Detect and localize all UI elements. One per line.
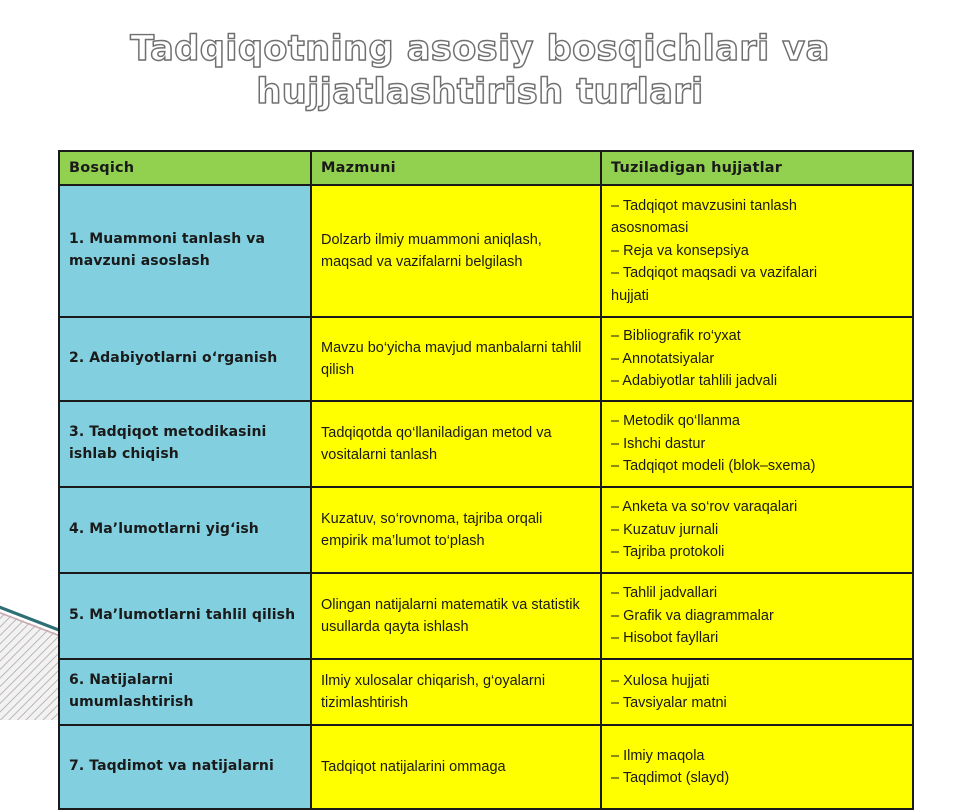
stage-cell: 4. Ma’lumotlarni yig‘ish xyxy=(59,487,311,573)
document-line: – Ishchi dastur xyxy=(611,433,903,455)
table-row: 3. Tadqiqot metodikasini ishlab chiqish … xyxy=(59,401,913,487)
document-line: – Hisobot fayllari xyxy=(611,627,903,649)
table-header-row: Bosqich Mazmuni Tuziladigan hujjatlar xyxy=(59,151,913,185)
document-line: – Tajriba protokoli xyxy=(611,541,903,563)
content-cell: Dolzarb ilmiy muammoni aniqlash, maqsad … xyxy=(311,185,601,317)
documents-cell: – Tahlil jadvallari – Grafik va diagramm… xyxy=(601,573,913,659)
table-row: 1. Muammoni tanlash va mavzuni asoslash … xyxy=(59,185,913,317)
table-row: 2. Adabiyotlarni o‘rganish Mavzu bo‘yich… xyxy=(59,317,913,401)
table-row: 4. Ma’lumotlarni yig‘ish Kuzatuv, so‘rov… xyxy=(59,487,913,573)
document-line: asosnomasi xyxy=(611,217,903,239)
table-body: 1. Muammoni tanlash va mavzuni asoslash … xyxy=(59,185,913,809)
document-line: – Grafik va diagrammalar xyxy=(611,605,903,627)
content-cell: Ilmiy xulosalar chiqarish, g‘oyalarni ti… xyxy=(311,659,601,725)
documents-cell: – Tadqiqot mavzusini tanlash asosnomasi … xyxy=(601,185,913,317)
document-line: – Xulosa hujjati xyxy=(611,670,903,692)
document-line: – Tavsiyalar matni xyxy=(611,692,903,714)
document-line: – Tadqiqot maqsadi va vazifalari xyxy=(611,262,903,284)
documents-cell: – Ilmiy maqola – Taqdimot (slayd) xyxy=(601,725,913,809)
column-header-hujjatlar: Tuziladigan hujjatlar xyxy=(601,151,913,185)
content-cell: Tadqiqot natijalarini ommaga xyxy=(311,725,601,809)
stage-cell: 7. Taqdimot va natijalarni xyxy=(59,725,311,809)
document-line: – Annotatsiyalar xyxy=(611,348,903,370)
table-row: 5. Ma’lumotlarni tahlil qilish Olingan n… xyxy=(59,573,913,659)
document-line: – Taqdimot (slayd) xyxy=(611,767,903,789)
document-line: – Adabiyotlar tahlili jadvali xyxy=(611,370,903,392)
stage-cell: 6. Natijalarni umumlashtirish xyxy=(59,659,311,725)
document-line: – Tadqiqot mavzusini tanlash xyxy=(611,195,903,217)
document-line: – Tadqiqot modeli (blok–sxema) xyxy=(611,455,903,477)
document-line: – Metodik qo‘llanma xyxy=(611,410,903,432)
document-line: – Ilmiy maqola xyxy=(611,745,903,767)
content-cell: Mavzu bo‘yicha mavjud manbalarni tahlil … xyxy=(311,317,601,401)
slide-title-line-1: Tadqiqotning asosiy bosqichlari va xyxy=(0,28,960,71)
documents-cell: – Xulosa hujjati – Tavsiyalar matni xyxy=(601,659,913,725)
research-stages-table: Bosqich Mazmuni Tuziladigan hujjatlar 1.… xyxy=(58,150,914,810)
document-line: – Tahlil jadvallari xyxy=(611,582,903,604)
stage-cell: 5. Ma’lumotlarni tahlil qilish xyxy=(59,573,311,659)
documents-cell: – Anketa va so‘rov varaqalari – Kuzatuv … xyxy=(601,487,913,573)
content-cell: Tadqiqotda qo‘llaniladigan metod va vosi… xyxy=(311,401,601,487)
slide-title-line-2: hujjatlashtirish turlari xyxy=(0,71,960,114)
stage-cell: 3. Tadqiqot metodikasini ishlab chiqish xyxy=(59,401,311,487)
content-cell: Kuzatuv, so‘rovnoma, tajriba orqali empi… xyxy=(311,487,601,573)
stage-cell: 1. Muammoni tanlash va mavzuni asoslash xyxy=(59,185,311,317)
table-row: 7. Taqdimot va natijalarni Tadqiqot nati… xyxy=(59,725,913,809)
slide-title: Tadqiqotning asosiy bosqichlari va hujja… xyxy=(0,28,960,113)
column-header-bosqich: Bosqich xyxy=(59,151,311,185)
document-line: – Bibliografik ro‘yxat xyxy=(611,325,903,347)
documents-cell: – Metodik qo‘llanma – Ishchi dastur – Ta… xyxy=(601,401,913,487)
document-line: – Kuzatuv jurnali xyxy=(611,519,903,541)
column-header-mazmuni: Mazmuni xyxy=(311,151,601,185)
content-cell: Olingan natijalarni matematik va statist… xyxy=(311,573,601,659)
document-line: – Anketa va so‘rov varaqalari xyxy=(611,496,903,518)
table-row: 6. Natijalarni umumlashtirish Ilmiy xulo… xyxy=(59,659,913,725)
stage-cell: 2. Adabiyotlarni o‘rganish xyxy=(59,317,311,401)
document-line: – Reja va konsepsiya xyxy=(611,240,903,262)
documents-cell: – Bibliografik ro‘yxat – Annotatsiyalar … xyxy=(601,317,913,401)
document-line: hujjati xyxy=(611,285,903,307)
